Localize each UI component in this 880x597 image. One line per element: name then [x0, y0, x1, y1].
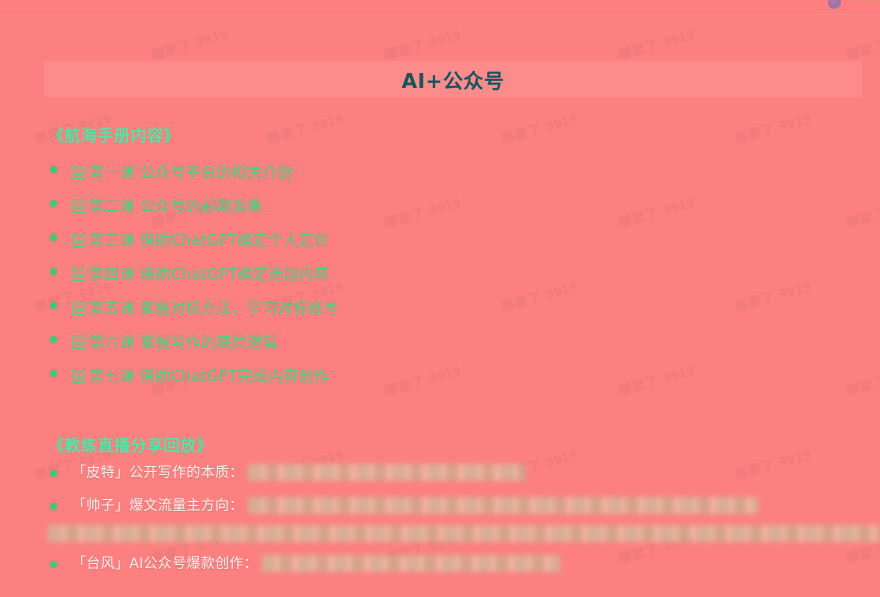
lesson-list-item[interactable]: 第一课 公众号平台的相关介绍: [0, 154, 339, 188]
bullet-icon: [50, 370, 57, 377]
document-icon: [72, 301, 85, 315]
replay-label: 「皮特」公开写作的本质：: [72, 462, 244, 484]
document-icon: [72, 335, 85, 349]
lesson-list-item[interactable]: 第七课 借助ChatGPT完成内容创作: [0, 358, 339, 392]
lesson-title: 第七课 借助ChatGPT完成内容创作: [89, 365, 329, 386]
document-icon: [72, 233, 85, 247]
document-icon: [72, 199, 85, 213]
bullet-icon: [50, 234, 57, 241]
page-title: AI+公众号: [402, 65, 505, 94]
lesson-title: 第三课 借助ChatGPT确定个人定位: [89, 229, 329, 250]
document-icon: [72, 165, 85, 179]
section-heading-replay: 《教练直播分享回放》: [48, 432, 213, 456]
document-page: AI+公众号 《航海手册内容》 第一课 公众号平台的相关介绍第二课 公众号的前期…: [0, 14, 880, 597]
redacted-link-block[interactable]: [248, 497, 758, 514]
document-icon: [72, 369, 85, 383]
lesson-title: 第六课 掌握写作的底层逻辑: [89, 331, 278, 352]
lesson-list-item[interactable]: 第六课 掌握写作的底层逻辑: [0, 324, 339, 358]
replay-list: 「皮特」公开写作的本质：「帅子」爆文流量主方向：「台风」AI公众号爆款创作：: [0, 462, 880, 586]
bullet-icon: [50, 166, 57, 173]
bullet-icon: [50, 470, 57, 477]
replay-label: 「帅子」爆文流量主方向：: [72, 495, 244, 517]
bullet-icon: [50, 200, 57, 207]
bullet-icon: [50, 302, 57, 309]
lesson-title: 第四课 借助ChatGPT确定选题内容: [89, 263, 329, 284]
lesson-list-item[interactable]: 第三课 借助ChatGPT确定个人定位: [0, 222, 339, 256]
bullet-icon: [50, 336, 57, 343]
replay-label: 「台风」AI公众号爆款创作：: [72, 553, 258, 575]
lesson-list-item[interactable]: 第四课 借助ChatGPT确定选题内容: [0, 256, 339, 290]
redacted-link-block[interactable]: [248, 464, 526, 481]
redacted-link-block[interactable]: [262, 555, 560, 572]
lesson-list-item[interactable]: 第二课 公众号的前期准备: [0, 188, 339, 222]
bullet-icon: [50, 503, 57, 510]
document-icon: [72, 267, 85, 281]
lesson-list-item[interactable]: 第五课 掌握对标方法，学习对标账号: [0, 290, 339, 324]
section-heading-manual: 《航海手册内容》: [48, 122, 180, 146]
redacted-link-block[interactable]: [48, 525, 880, 542]
browser-edge-marker: [862, 0, 876, 2]
replay-list-item[interactable]: 「皮特」公开写作的本质：: [0, 462, 880, 484]
replay-list-item[interactable]: 「台风」AI公众号爆款创作：: [0, 553, 880, 575]
lesson-title: 第一课 公众号平台的相关介绍: [89, 161, 293, 182]
title-banner: AI+公众号: [44, 61, 862, 97]
lesson-title: 第五课 掌握对标方法，学习对标账号: [89, 297, 339, 318]
lesson-list: 第一课 公众号平台的相关介绍第二课 公众号的前期准备第三课 借助ChatGPT确…: [0, 154, 339, 392]
user-avatar-icon[interactable]: [828, 0, 841, 9]
browser-top-strip: [0, 0, 880, 15]
replay-list-item[interactable]: 「帅子」爆文流量主方向：: [0, 495, 880, 542]
bullet-icon: [50, 561, 57, 568]
bullet-icon: [50, 268, 57, 275]
lesson-title: 第二课 公众号的前期准备: [89, 195, 262, 216]
